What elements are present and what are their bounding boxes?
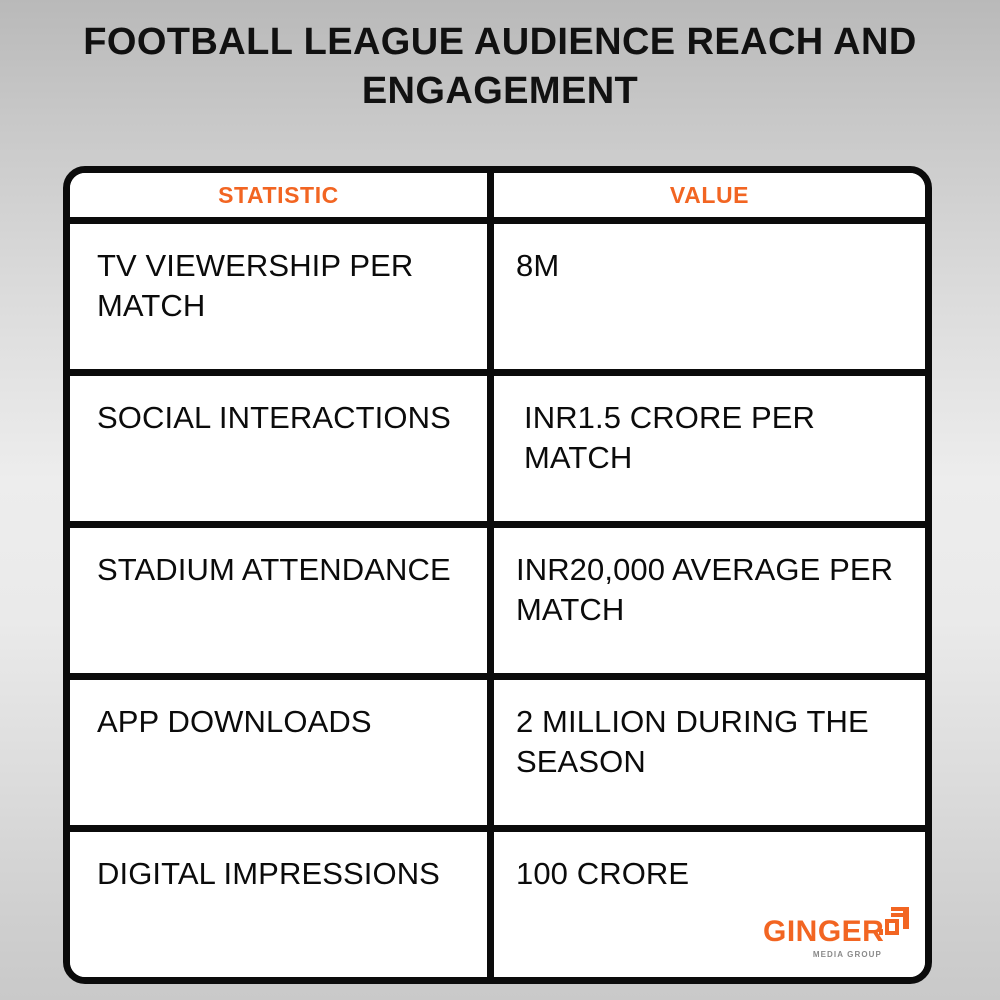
- cell-statistic: STADIUM ATTENDANCE: [70, 528, 494, 673]
- statistic-label: DIGITAL IMPRESSIONS: [97, 854, 440, 894]
- value-label: INR1.5 CRORE PER MATCH: [524, 398, 911, 479]
- value-label: 2 MILLION DURING THE SEASON: [516, 702, 911, 783]
- cell-statistic: APP DOWNLOADS: [70, 680, 494, 825]
- table-row: SOCIAL INTERACTIONS INR1.5 CRORE PER MAT…: [70, 376, 925, 528]
- table-row: STADIUM ATTENDANCE INR20,000 AVERAGE PER…: [70, 528, 925, 680]
- page-title: FOOTBALL LEAGUE AUDIENCE REACH AND ENGAG…: [60, 18, 940, 115]
- cell-value: INR1.5 CRORE PER MATCH: [494, 376, 925, 521]
- statistics-table: STATISTIC VALUE TV VIEWERSHIP PER MATCH …: [63, 166, 932, 984]
- cell-statistic: SOCIAL INTERACTIONS: [70, 376, 494, 521]
- logo-tagline: MEDIA GROUP: [813, 951, 882, 959]
- cell-value: 8M: [494, 224, 925, 369]
- header-cell-value: VALUE: [494, 173, 925, 217]
- header-label-value: VALUE: [670, 184, 749, 207]
- ginger-media-group-logo: GINGER MEDIA GROUP: [759, 905, 909, 967]
- statistic-label: STADIUM ATTENDANCE: [97, 550, 451, 590]
- table-row: APP DOWNLOADS 2 MILLION DURING THE SEASO…: [70, 680, 925, 832]
- header-label-statistic: STATISTIC: [218, 184, 339, 207]
- cell-statistic: DIGITAL IMPRESSIONS: [70, 832, 494, 977]
- cell-statistic: TV VIEWERSHIP PER MATCH: [70, 224, 494, 369]
- logo-wordmark: GINGER: [763, 917, 884, 947]
- statistic-label: SOCIAL INTERACTIONS: [97, 398, 451, 438]
- cell-value: 100 CRORE GINGER MEDIA GROUP: [494, 832, 925, 977]
- table-row: TV VIEWERSHIP PER MATCH 8M: [70, 224, 925, 376]
- ginger-nested-squares-mark-icon: [879, 907, 909, 935]
- value-label: 8M: [516, 246, 559, 286]
- value-label: INR20,000 AVERAGE PER MATCH: [516, 550, 911, 631]
- statistic-label: APP DOWNLOADS: [97, 702, 372, 742]
- cell-value: INR20,000 AVERAGE PER MATCH: [494, 528, 925, 673]
- value-label: 100 CRORE: [516, 854, 689, 894]
- table-row: DIGITAL IMPRESSIONS 100 CRORE GINGER MED…: [70, 832, 925, 977]
- cell-value: 2 MILLION DURING THE SEASON: [494, 680, 925, 825]
- table-header-row: STATISTIC VALUE: [70, 173, 925, 224]
- header-cell-statistic: STATISTIC: [70, 173, 494, 217]
- statistic-label: TV VIEWERSHIP PER MATCH: [97, 246, 473, 327]
